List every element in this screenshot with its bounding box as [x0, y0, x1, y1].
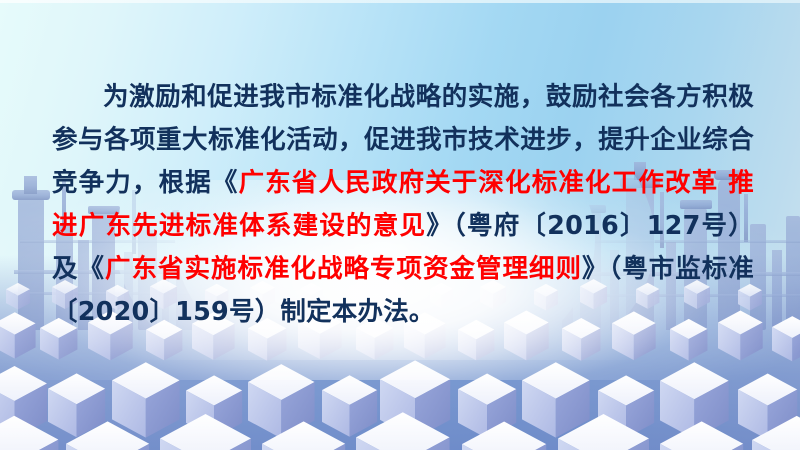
body-paragraph: 为激励和促进我市标准化战略的实施，鼓励社会各方积极参与各项重大标准化活动，促进我… [52, 76, 754, 334]
text-segment-4-highlight: 广东省实施标准化战略专项资金管理细则 [105, 254, 582, 284]
slide-canvas: 为激励和促进我市标准化战略的实施，鼓励社会各方积极参与各项重大标准化活动，促进我… [0, 0, 800, 450]
background-top-edge [0, 0, 800, 3]
body-text-block: 为激励和促进我市标准化战略的实施，鼓励社会各方积极参与各项重大标准化活动，促进我… [52, 76, 754, 334]
